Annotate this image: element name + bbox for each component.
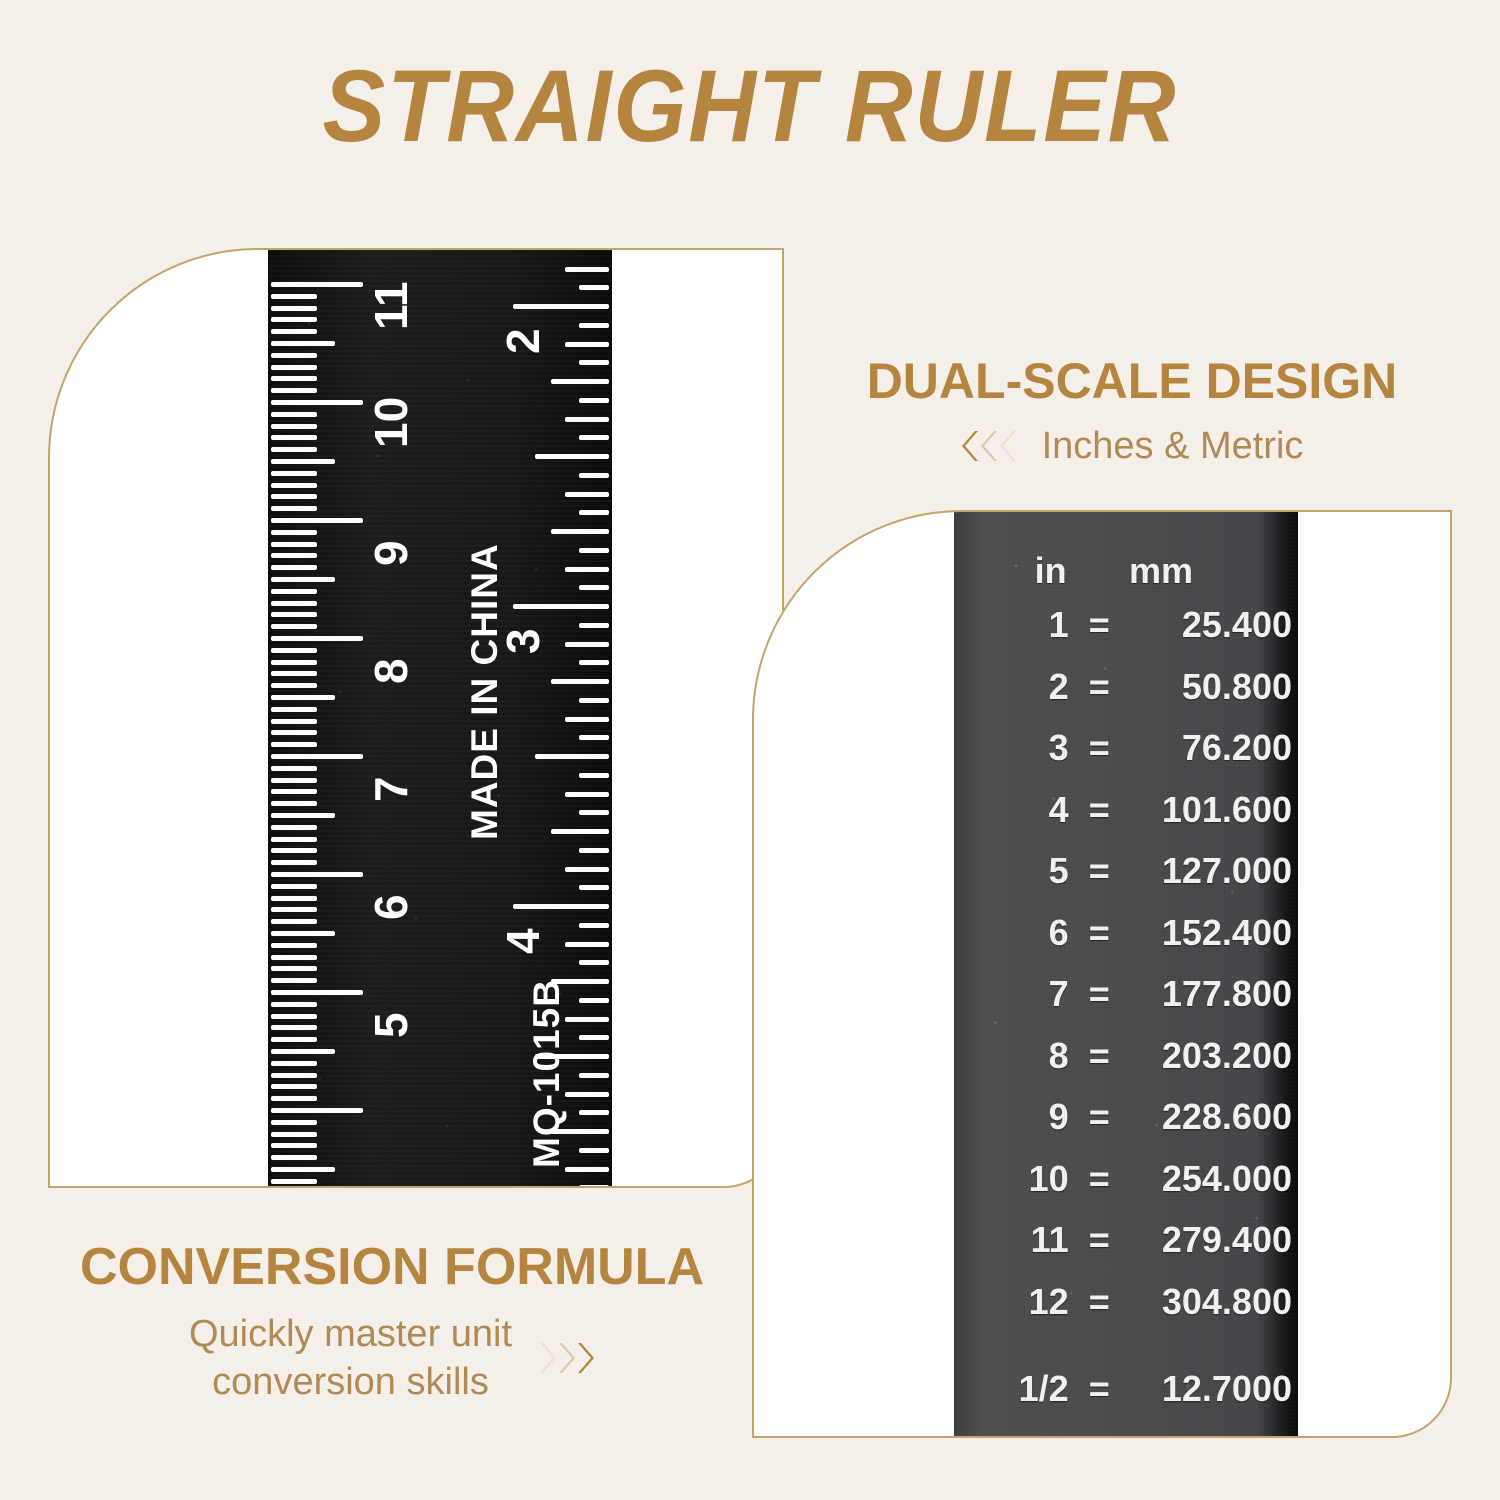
cell-equals: = bbox=[1073, 850, 1126, 892]
ruler-tick bbox=[271, 1155, 317, 1160]
ruler-tick bbox=[271, 412, 317, 417]
table-row: 3=76.200 bbox=[954, 727, 1298, 789]
cell-millimeters: 76.200 bbox=[1126, 727, 1298, 769]
cell-millimeters: 50.800 bbox=[1126, 666, 1298, 708]
ruler-tick bbox=[271, 872, 363, 877]
ruler-tick bbox=[271, 577, 335, 582]
cell-inches: 8 bbox=[954, 1035, 1073, 1077]
ruler-tick bbox=[271, 483, 317, 488]
ruler-tick bbox=[513, 904, 609, 909]
ruler-tick bbox=[271, 1014, 317, 1019]
ruler-tick bbox=[271, 931, 335, 936]
cell-inches: 12 bbox=[954, 1281, 1073, 1323]
chevron-left-icon bbox=[961, 429, 978, 463]
ruler-tick bbox=[271, 1108, 363, 1113]
ruler-tick bbox=[565, 717, 609, 722]
ruler-tick bbox=[579, 398, 609, 403]
ruler-tick bbox=[271, 1084, 317, 1089]
feature-conversion-subtitle-line2: conversion skills bbox=[212, 1361, 489, 1403]
ruler-tick bbox=[579, 623, 609, 628]
ruler-tick bbox=[579, 773, 609, 778]
ruler-tick bbox=[565, 792, 609, 797]
header-in: in bbox=[954, 550, 1073, 592]
ruler-tick bbox=[579, 585, 609, 590]
cell-equals: = bbox=[1073, 789, 1126, 831]
ruler-tick bbox=[271, 1132, 317, 1137]
feature-conversion-title: CONVERSION FORMULA bbox=[52, 1238, 732, 1296]
ruler-tick bbox=[271, 1037, 317, 1042]
cell-millimeters: 279.400 bbox=[1126, 1219, 1298, 1261]
cell-equals: = bbox=[1073, 912, 1126, 954]
ruler-tick bbox=[271, 589, 317, 594]
ruler-tick bbox=[579, 735, 609, 740]
ruler-tick bbox=[271, 294, 317, 299]
ruler-tick bbox=[579, 510, 609, 515]
table-row: 12=304.800 bbox=[954, 1281, 1298, 1343]
cell-equals: = bbox=[1073, 1281, 1126, 1323]
metric-tick-scale bbox=[268, 248, 368, 1188]
ruler-tick bbox=[271, 459, 335, 464]
metric-scale-number: 9 bbox=[368, 540, 414, 566]
right-product-card: in mm 1=25.4002=50.8003=76.2004=101.6005… bbox=[752, 510, 1452, 1438]
ruler-tick bbox=[271, 1179, 317, 1184]
ruler-tick bbox=[579, 810, 609, 815]
ruler-tick bbox=[271, 966, 317, 971]
cell-millimeters: 12.7000 bbox=[1126, 1368, 1298, 1410]
ruler-tick bbox=[579, 698, 609, 703]
cell-equals: = bbox=[1073, 1430, 1126, 1439]
cell-inches: 5 bbox=[954, 850, 1073, 892]
ruler-tick bbox=[579, 885, 609, 890]
cell-equals: = bbox=[1073, 666, 1126, 708]
cell-inches: 6 bbox=[954, 912, 1073, 954]
feature-conversion-subtitle: Quickly master unit conversion skills bbox=[189, 1310, 512, 1406]
ruler-tick bbox=[271, 282, 363, 287]
metric-scale-number: 8 bbox=[368, 658, 414, 684]
conversion-table: in mm 1=25.4002=50.8003=76.2004=101.6005… bbox=[954, 550, 1298, 1438]
ruler-tick bbox=[271, 1061, 317, 1066]
ruler-tick bbox=[565, 1167, 609, 1172]
cell-inches: 11 bbox=[954, 1219, 1073, 1261]
black-ruler-image: 111098765 234 MADE IN CHINA MQ-1015B bbox=[268, 248, 612, 1188]
cell-equals: = bbox=[1073, 1368, 1126, 1410]
table-row: 6=152.400 bbox=[954, 912, 1298, 974]
ruler-tick bbox=[579, 848, 609, 853]
ruler-tick bbox=[579, 360, 609, 365]
cell-millimeters: 254.000 bbox=[1126, 1158, 1298, 1200]
ruler-tick bbox=[271, 754, 363, 759]
inch-scale-number: 3 bbox=[500, 628, 546, 654]
chevron-right-icon bbox=[559, 1341, 576, 1375]
ruler-tick bbox=[271, 388, 317, 393]
ruler-tick bbox=[513, 304, 609, 309]
ruler-tick bbox=[271, 1120, 317, 1125]
ruler-tick bbox=[271, 896, 317, 901]
cell-inches: 2 bbox=[954, 666, 1073, 708]
cell-millimeters: 177.800 bbox=[1126, 973, 1298, 1015]
ruler-tick bbox=[565, 1092, 609, 1097]
feature-dual-scale: DUAL-SCALE DESIGN Inches & Metric bbox=[832, 352, 1432, 470]
ruler-tick bbox=[271, 837, 317, 842]
ruler-tick bbox=[271, 707, 317, 712]
ruler-tick bbox=[271, 506, 317, 511]
ruler-tick bbox=[271, 1002, 317, 1007]
ruler-tick bbox=[271, 766, 317, 771]
ruler-tick bbox=[271, 789, 317, 794]
ruler-tick bbox=[579, 960, 609, 965]
ruler-tick bbox=[271, 435, 317, 440]
ruler-tick bbox=[271, 825, 317, 830]
ruler-tick bbox=[271, 683, 317, 688]
cell-inches: 7 bbox=[954, 973, 1073, 1015]
ruler-tick bbox=[271, 1143, 317, 1148]
table-row: 11=279.400 bbox=[954, 1219, 1298, 1281]
cell-equals: = bbox=[1073, 973, 1126, 1015]
ruler-tick bbox=[271, 424, 317, 429]
ruler-tick bbox=[271, 565, 317, 570]
ruler-tick bbox=[271, 553, 317, 558]
table-row-fraction: 1/4=6.3500 bbox=[954, 1430, 1298, 1439]
ruler-tick bbox=[271, 542, 317, 547]
ruler-tick bbox=[579, 1110, 609, 1115]
ruler-tick bbox=[551, 829, 609, 834]
ruler-tick bbox=[565, 642, 609, 647]
ruler-tick bbox=[551, 679, 609, 684]
ruler-tick bbox=[271, 329, 317, 334]
metric-scale-number: 10 bbox=[368, 397, 414, 448]
chevron-right-icon bbox=[540, 1341, 557, 1375]
ruler-tick bbox=[579, 548, 609, 553]
ruler-tick bbox=[271, 612, 317, 617]
ruler-tick bbox=[271, 376, 317, 381]
table-row: 7=177.800 bbox=[954, 973, 1298, 1035]
ruler-tick bbox=[565, 567, 609, 572]
ruler-tick bbox=[271, 306, 317, 311]
chevron-left-group bbox=[961, 429, 1016, 463]
ruler-tick bbox=[271, 848, 317, 853]
ruler-tick bbox=[579, 1185, 609, 1188]
feature-dual-scale-title: DUAL-SCALE DESIGN bbox=[832, 352, 1432, 410]
ruler-tick bbox=[271, 400, 363, 405]
table-row: 10=254.000 bbox=[954, 1158, 1298, 1220]
ruler-tick bbox=[271, 365, 317, 370]
cell-millimeters: 304.800 bbox=[1126, 1281, 1298, 1323]
inch-scale-number: 4 bbox=[500, 928, 546, 954]
feature-conversion-subtitle-line1: Quickly master unit bbox=[189, 1313, 512, 1355]
chevron-left-icon bbox=[980, 429, 997, 463]
ruler-tick bbox=[513, 604, 609, 609]
table-row: 9=228.600 bbox=[954, 1096, 1298, 1158]
ruler-tick bbox=[271, 648, 317, 653]
ruler-tick bbox=[271, 860, 317, 865]
ruler-tick bbox=[551, 529, 609, 534]
inch-scale-number: 2 bbox=[500, 328, 546, 354]
ruler-tick bbox=[271, 1096, 317, 1101]
cell-equals: = bbox=[1073, 1096, 1126, 1138]
ruler-tick bbox=[565, 417, 609, 422]
cell-inches: 9 bbox=[954, 1096, 1073, 1138]
ruler-tick bbox=[271, 317, 317, 322]
cell-inches: 10 bbox=[954, 1158, 1073, 1200]
table-row: 4=101.600 bbox=[954, 789, 1298, 851]
metric-scale-number: 11 bbox=[368, 281, 414, 330]
ruler-tick bbox=[271, 353, 317, 358]
cell-equals: = bbox=[1073, 604, 1126, 646]
ruler-tick bbox=[271, 471, 317, 476]
ruler-tick bbox=[579, 285, 609, 290]
ruler-tick bbox=[271, 813, 335, 818]
table-header-row: in mm bbox=[954, 550, 1298, 604]
ruler-tick bbox=[551, 379, 609, 384]
chevron-left-icon bbox=[999, 429, 1016, 463]
table-row: 8=203.200 bbox=[954, 1035, 1298, 1097]
cell-millimeters: 127.000 bbox=[1126, 850, 1298, 892]
metric-scale-number: 6 bbox=[368, 894, 414, 920]
ruler-tick bbox=[271, 624, 317, 629]
cell-equals: = bbox=[1073, 1219, 1126, 1261]
ruler-tick bbox=[579, 323, 609, 328]
ruler-tick bbox=[271, 978, 317, 983]
left-product-card: 111098765 234 MADE IN CHINA MQ-1015B bbox=[48, 248, 784, 1188]
ruler-tick bbox=[565, 1017, 609, 1022]
ruler-tick bbox=[271, 447, 317, 452]
table-row: 5=127.000 bbox=[954, 850, 1298, 912]
cell-equals: = bbox=[1073, 1035, 1126, 1077]
ruler-tick bbox=[271, 695, 335, 700]
chevron-right-group bbox=[540, 1341, 595, 1375]
ruler-tick bbox=[579, 660, 609, 665]
ruler-tick bbox=[271, 990, 363, 995]
ruler-tick bbox=[579, 435, 609, 440]
ruler-tick bbox=[565, 342, 609, 347]
cell-inches: 3 bbox=[954, 727, 1073, 769]
ruler-tick bbox=[271, 1049, 335, 1054]
ruler-tick bbox=[271, 341, 335, 346]
ruler-origin-text: MADE IN CHINA bbox=[464, 543, 506, 840]
cell-millimeters: 203.200 bbox=[1126, 1035, 1298, 1077]
table-row: 2=50.800 bbox=[954, 666, 1298, 728]
ruler-tick bbox=[565, 492, 609, 497]
ruler-tick bbox=[271, 1025, 317, 1030]
ruler-tick bbox=[535, 754, 609, 759]
ruler-tick bbox=[271, 671, 317, 676]
ruler-tick bbox=[271, 907, 317, 912]
ruler-tick bbox=[579, 473, 609, 478]
ruler-tick bbox=[579, 1073, 609, 1078]
ruler-tick bbox=[271, 601, 317, 606]
ruler-tick bbox=[271, 955, 317, 960]
cell-equals: = bbox=[1073, 1158, 1126, 1200]
ruler-tick bbox=[271, 884, 317, 889]
cell-millimeters: 152.400 bbox=[1126, 912, 1298, 954]
feature-dual-scale-subtitle: Inches & Metric bbox=[1042, 422, 1304, 470]
ruler-tick bbox=[565, 867, 609, 872]
ruler-tick bbox=[579, 923, 609, 928]
ruler-tick bbox=[271, 636, 363, 641]
chevron-right-icon bbox=[578, 1341, 595, 1375]
ruler-tick bbox=[271, 943, 317, 948]
ruler-tick bbox=[535, 454, 609, 459]
cell-millimeters: 6.3500 bbox=[1126, 1430, 1298, 1439]
feature-conversion-formula: CONVERSION FORMULA Quickly master unit c… bbox=[52, 1238, 732, 1406]
ruler-tick bbox=[565, 942, 609, 947]
table-section-divider bbox=[954, 1342, 1298, 1368]
ruler-tick bbox=[271, 730, 317, 735]
cell-millimeters: 25.400 bbox=[1126, 604, 1298, 646]
header-mm: mm bbox=[1125, 550, 1298, 592]
ruler-tick bbox=[579, 1148, 609, 1153]
metric-scale-number: 7 bbox=[368, 776, 414, 802]
cell-inches: 1 bbox=[954, 604, 1073, 646]
cell-millimeters: 101.600 bbox=[1126, 789, 1298, 831]
ruler-tick bbox=[271, 919, 317, 924]
ruler-tick bbox=[579, 998, 609, 1003]
table-row: 1=25.400 bbox=[954, 604, 1298, 666]
cell-inches: 4 bbox=[954, 789, 1073, 831]
ruler-tick bbox=[271, 518, 363, 523]
ruler-tick bbox=[271, 719, 317, 724]
ruler-model-text: MQ-1015B bbox=[526, 979, 568, 1168]
ruler-tick bbox=[271, 494, 317, 499]
ruler-tick bbox=[271, 1167, 335, 1172]
cell-inches: 1/4 bbox=[954, 1430, 1073, 1439]
cell-equals: = bbox=[1073, 727, 1126, 769]
ruler-tick bbox=[271, 1073, 317, 1078]
page-title: STRAIGHT RULER bbox=[60, 52, 1440, 160]
conversion-panel-image: in mm 1=25.4002=50.8003=76.2004=101.6005… bbox=[954, 510, 1298, 1438]
ruler-tick bbox=[579, 1035, 609, 1040]
cell-inches: 1/2 bbox=[954, 1368, 1073, 1410]
ruler-tick bbox=[271, 801, 317, 806]
ruler-tick bbox=[271, 660, 317, 665]
ruler-tick bbox=[271, 742, 317, 747]
ruler-tick bbox=[271, 530, 317, 535]
metric-scale-number: 5 bbox=[368, 1012, 414, 1038]
cell-millimeters: 228.600 bbox=[1126, 1096, 1298, 1138]
ruler-tick bbox=[565, 267, 609, 272]
ruler-tick bbox=[271, 778, 317, 783]
table-row-fraction: 1/2=12.7000 bbox=[954, 1368, 1298, 1430]
